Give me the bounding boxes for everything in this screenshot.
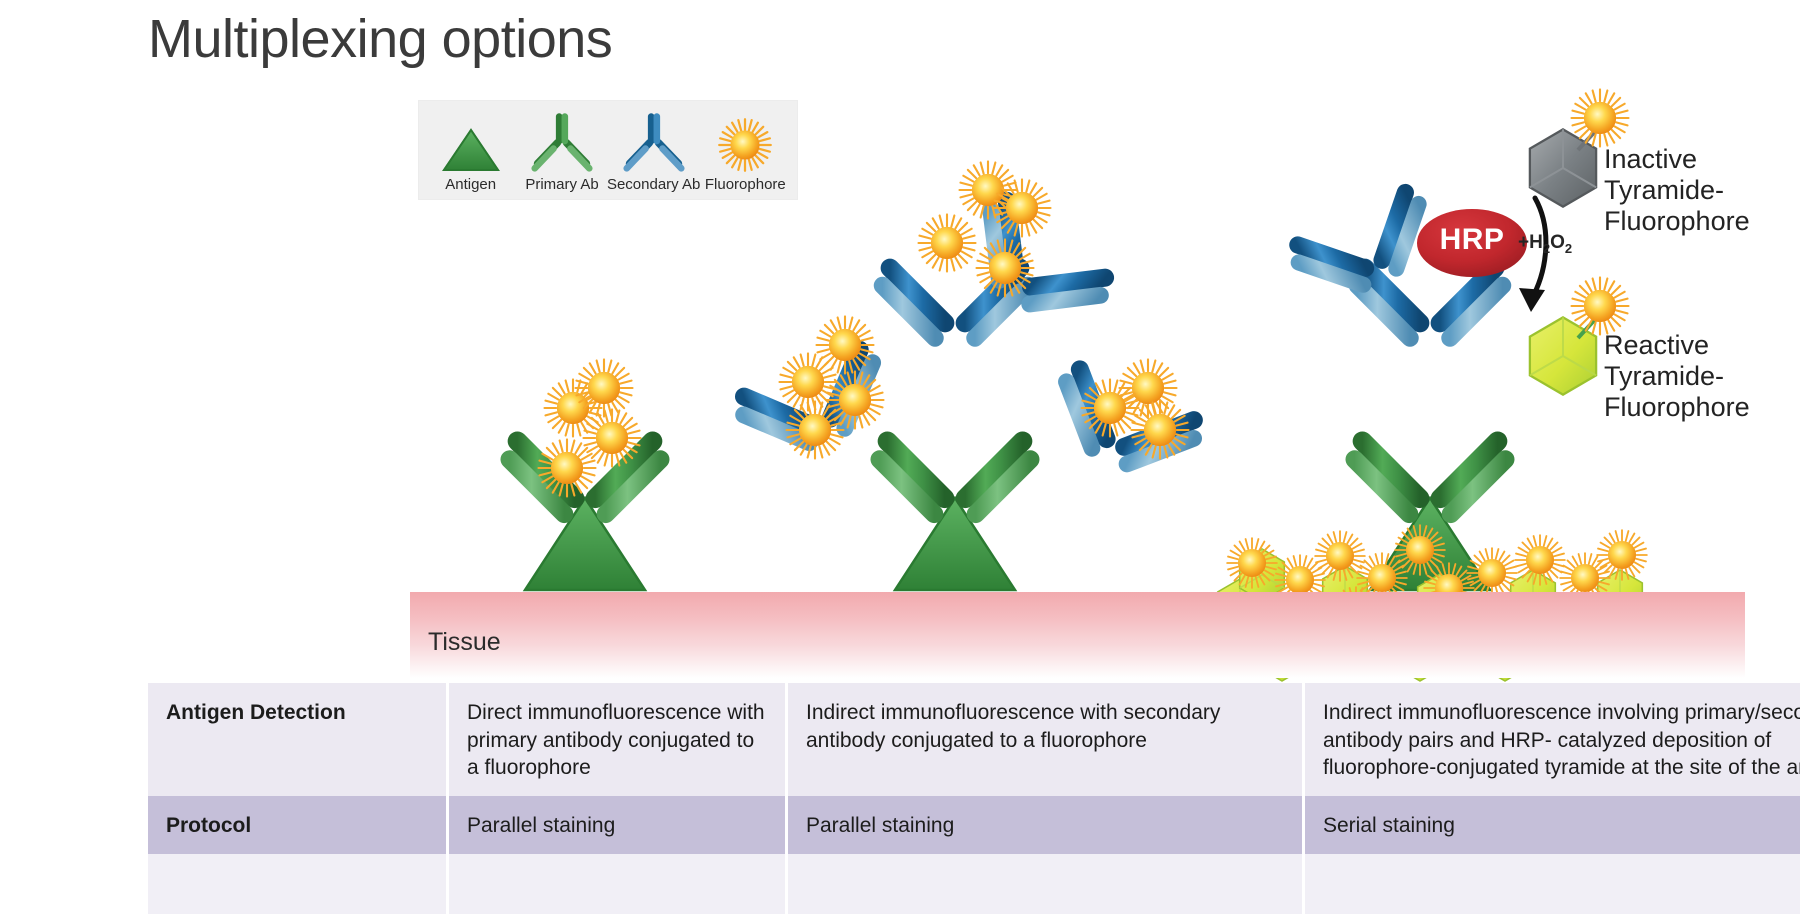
comparison-table: Antigen Detection Direct immunofluoresce… [148, 683, 1800, 914]
legend-label: Secondary Ab [607, 176, 700, 193]
inactive-line-1: Inactive [1604, 144, 1750, 175]
tissue-band [410, 592, 1745, 678]
legend-box: Antigen Primary Ab [418, 100, 798, 200]
legend-item-primary-ab: Primary Ab [516, 111, 607, 193]
diagram-page: Multiplexing options [0, 0, 1800, 900]
hrp-enzyme-badge [1417, 209, 1527, 277]
secondary-antibody-icon [622, 111, 686, 173]
primary-antibody-icon [530, 111, 594, 173]
antigen-triangle-icon [441, 111, 501, 173]
table-row: Antigen Detection Direct immunofluoresce… [148, 683, 1800, 796]
table-row-partial [148, 854, 1800, 914]
cell-partial-4 [1304, 854, 1800, 914]
row-header-protocol: Protocol [148, 796, 448, 854]
cell-partial-3 [787, 854, 1304, 914]
table-row: Protocol Parallel staining Parallel stai… [148, 796, 1800, 854]
cell-antigen-detection-2: Indirect immunofluorescence with seconda… [787, 683, 1304, 796]
hydrogen-peroxide-label: +H2O2 [1518, 232, 1572, 256]
cell-antigen-detection-3: Indirect immunofluorescence involving pr… [1304, 683, 1800, 796]
inactive-line-3: Fluorophore [1604, 206, 1750, 237]
row-header-antigen-detection: Antigen Detection [148, 683, 448, 796]
cell-protocol-2: Parallel staining [787, 796, 1304, 854]
legend-label: Fluorophore [705, 176, 786, 193]
cell-antigen-detection-1: Direct immunofluorescence with primary a… [448, 683, 787, 796]
legend-item-secondary-ab: Secondary Ab [608, 111, 700, 193]
legend-label: Antigen [445, 176, 496, 193]
legend-label: Primary Ab [525, 176, 598, 193]
reactive-tyramide-label: Reactive Tyramide- Fluorophore [1604, 330, 1750, 423]
reactive-line-2: Tyramide- [1604, 361, 1750, 392]
inactive-line-2: Tyramide- [1604, 175, 1750, 206]
tissue-label: Tissue [428, 628, 501, 657]
reactive-line-1: Reactive [1604, 330, 1750, 361]
reactive-line-3: Fluorophore [1604, 392, 1750, 423]
fluorophore-starburst-icon [717, 111, 773, 173]
panel-direct-immunofluorescence [510, 359, 661, 590]
legend-item-fluorophore: Fluorophore [700, 111, 791, 193]
h2o2-text: +H [1518, 232, 1543, 253]
panel-indirect-immunofluorescence [737, 161, 1200, 590]
inactive-tyramide-label: Inactive Tyramide- Fluorophore [1604, 144, 1750, 237]
legend-item-antigen: Antigen [425, 111, 516, 193]
cell-partial-2 [448, 854, 787, 914]
cell-protocol-1: Parallel staining [448, 796, 787, 854]
cell-protocol-3: Serial staining [1304, 796, 1800, 854]
cell-partial-1 [148, 854, 448, 914]
